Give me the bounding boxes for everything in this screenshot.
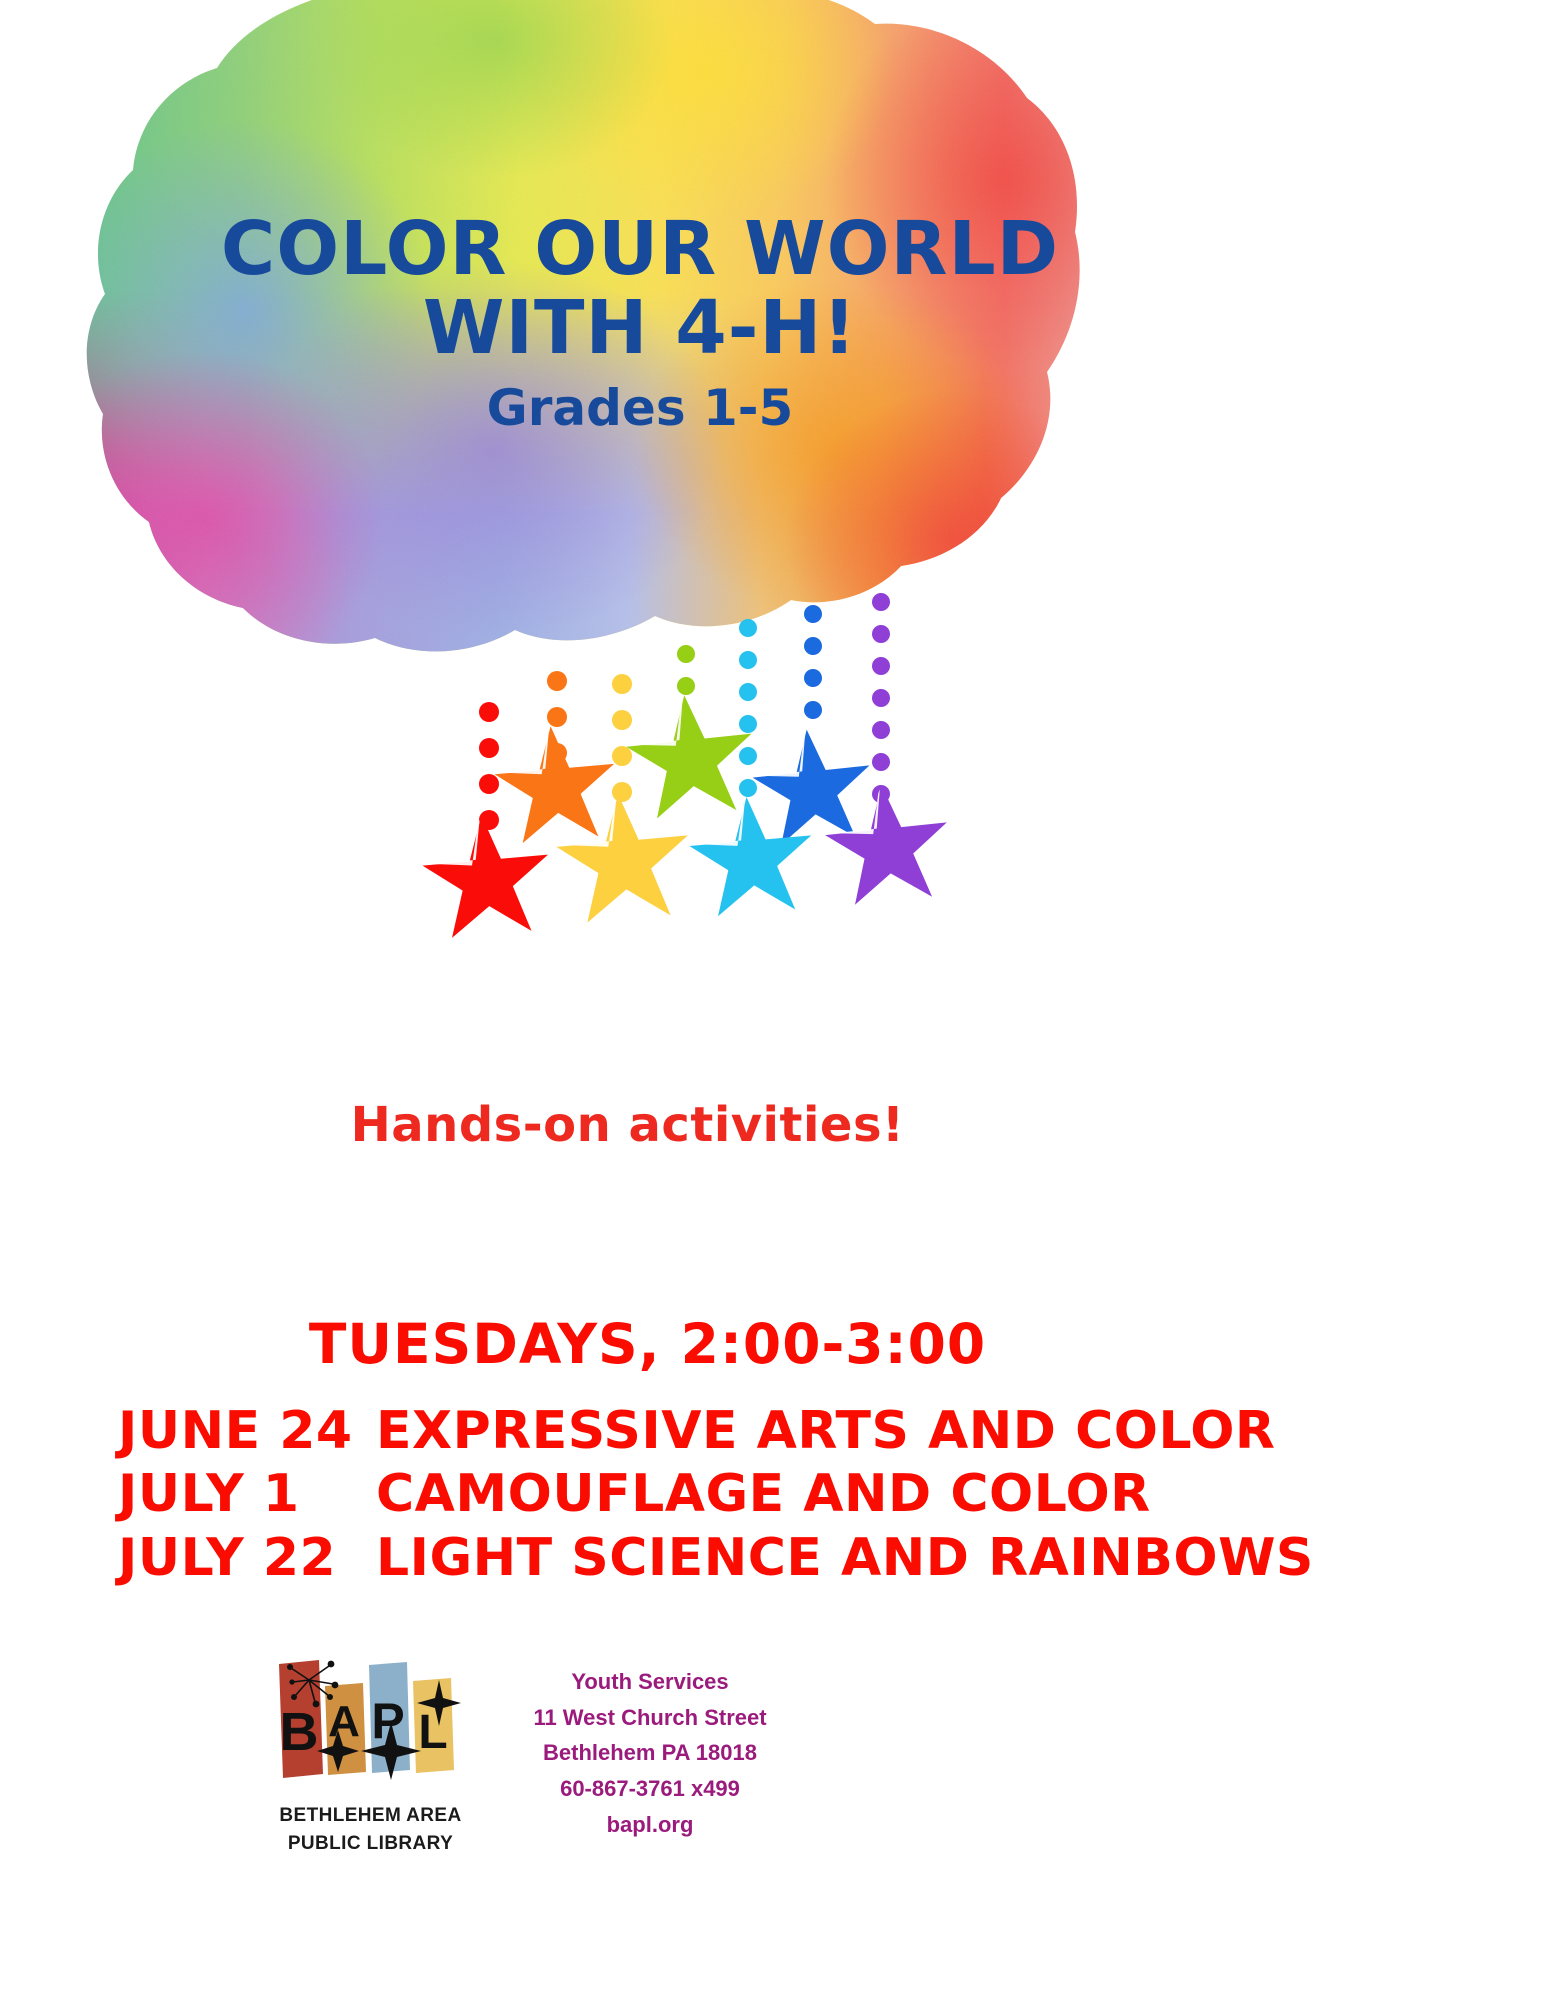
watercolor-rainbow-blob [75, 0, 1085, 720]
logo-letter-b: B [279, 1702, 318, 1762]
contact-website[interactable]: bapl.org [430, 1807, 870, 1843]
contact-city-state-zip: Bethlehem PA 18018 [430, 1735, 870, 1771]
schedule-row: JUNE 24 EXPRESSIVE ARTS AND COLOR [118, 1400, 1078, 1463]
contact-street: 11 West Church Street [430, 1700, 870, 1736]
star-red [419, 810, 555, 940]
schedule-heading: TUESDAYS, 2:00-3:00 [0, 1312, 1295, 1376]
schedule-topic: LIGHT SCIENCE AND RAINBOWS [376, 1527, 1314, 1590]
schedule-topic: CAMOUFLAGE AND COLOR [376, 1463, 1151, 1526]
schedule-topic: EXPRESSIVE ARTS AND COLOR [376, 1400, 1275, 1463]
schedule-row: JULY 1 CAMOUFLAGE AND COLOR [118, 1463, 1078, 1526]
logo-letter-a: A [328, 1697, 360, 1746]
contact-phone: 60-867-3761 x499 [430, 1771, 870, 1807]
logo-sparkle-large-icon [361, 1722, 421, 1780]
footer: B A P L [0, 1650, 1545, 2000]
contact-block: Youth Services 11 West Church Street Bet… [430, 1664, 870, 1842]
star-blue [748, 723, 877, 846]
star-purple [821, 779, 955, 907]
tagline-text: Hands-on activities! [0, 1097, 1255, 1153]
schedule-list: JUNE 24 EXPRESSIVE ARTS AND COLOR JULY 1… [118, 1400, 1078, 1590]
schedule-row: JULY 22 LIGHT SCIENCE AND RAINBOWS [118, 1527, 1078, 1590]
schedule-date: JUNE 24 [118, 1400, 376, 1463]
schedule-date: JULY 22 [118, 1527, 376, 1590]
schedule-date: JULY 1 [118, 1463, 376, 1526]
contact-department: Youth Services [430, 1664, 870, 1700]
star-cyan [686, 792, 818, 919]
star-yellow [552, 788, 694, 924]
dots-red [479, 702, 499, 830]
star-orange [491, 721, 620, 845]
